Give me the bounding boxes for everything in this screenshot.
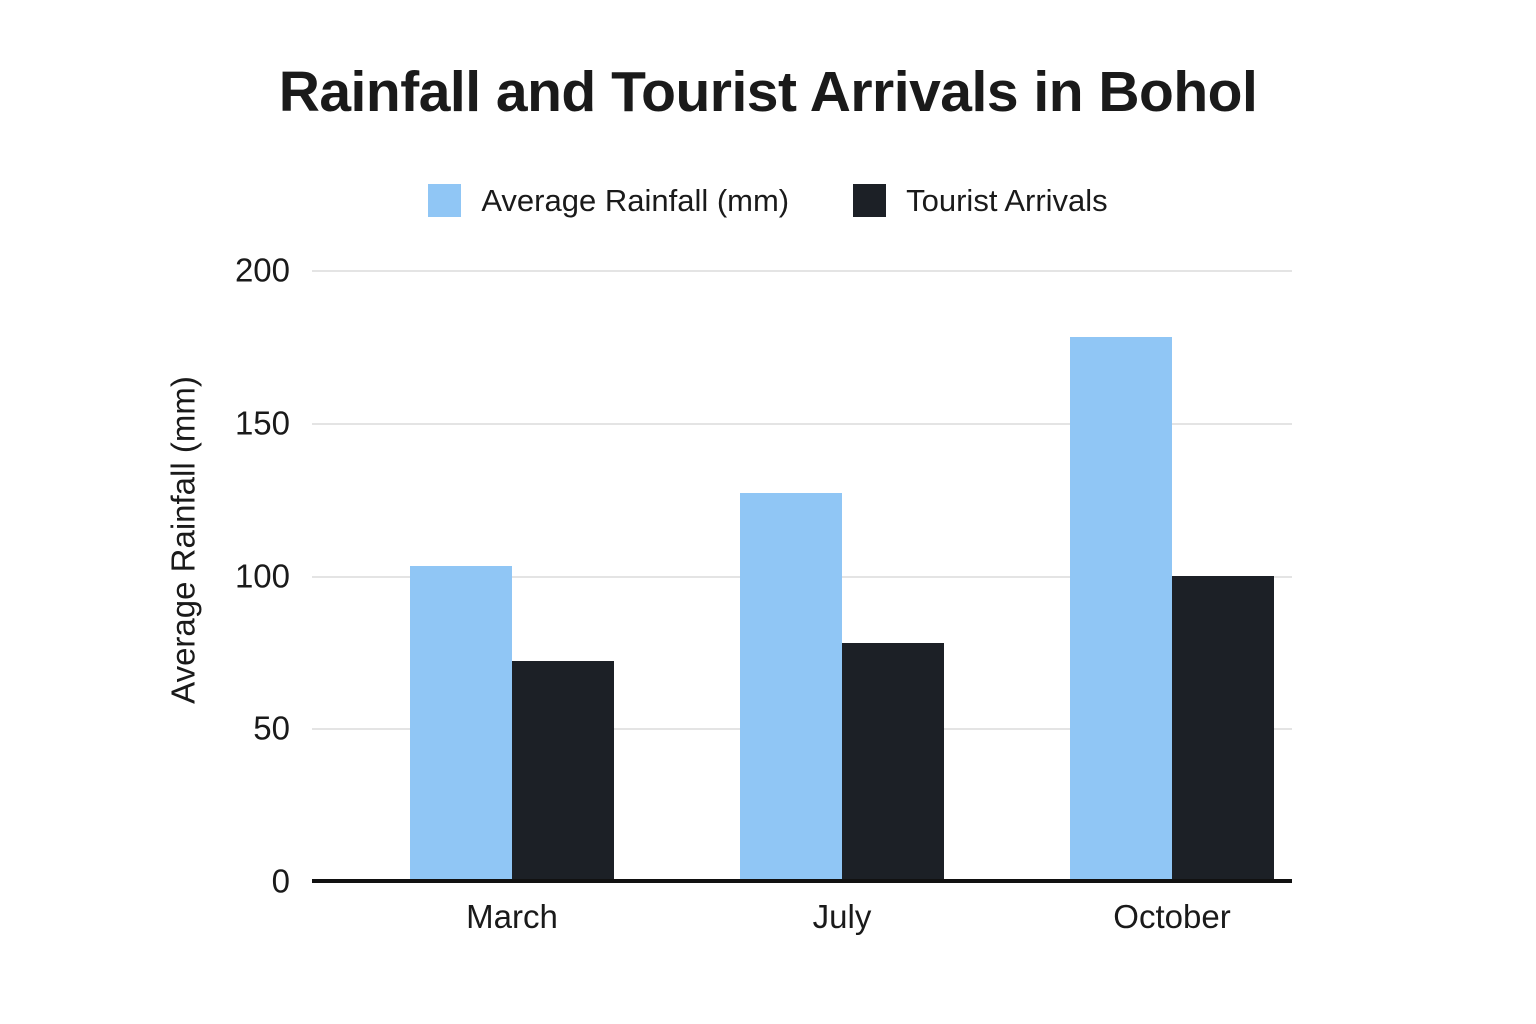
bar-march-rainfall[interactable] [410, 566, 512, 881]
gridline [312, 270, 1292, 272]
y-axis-tick-label: 200 [160, 254, 290, 287]
chart-title: Rainfall and Tourist Arrivals in Bohol [0, 63, 1536, 123]
x-axis-tick-label-july: July [813, 900, 872, 933]
legend-label-tourist-arrivals: Tourist Arrivals [906, 185, 1108, 216]
legend-label-average-rainfall: Average Rainfall (mm) [481, 185, 789, 216]
x-axis-line [312, 879, 1292, 883]
y-axis-tick-label: 0 [160, 865, 290, 898]
x-axis-tick-labels: MarchJulyOctober [312, 900, 1292, 960]
bar-october-rainfall[interactable] [1070, 337, 1172, 881]
bar-chart: Rainfall and Tourist Arrivals in Bohol A… [0, 0, 1536, 1024]
bar-march-tourist[interactable] [512, 661, 614, 881]
x-axis-tick-label-march: March [466, 900, 558, 933]
legend-item-average-rainfall[interactable]: Average Rainfall (mm) [428, 184, 789, 217]
bar-july-rainfall[interactable] [740, 493, 842, 881]
rainfall-swatch-icon [428, 184, 461, 217]
legend-item-tourist-arrivals[interactable]: Tourist Arrivals [853, 184, 1108, 217]
tourist-swatch-icon [853, 184, 886, 217]
y-axis-tick-label: 50 [160, 712, 290, 745]
bar-october-tourist[interactable] [1172, 576, 1274, 882]
bar-july-tourist[interactable] [842, 643, 944, 881]
y-axis-tick-label: 100 [160, 559, 290, 592]
y-axis-tick-labels: 050100150200 [150, 270, 290, 881]
chart-legend: Average Rainfall (mm) Tourist Arrivals [0, 184, 1536, 217]
x-axis-tick-label-october: October [1113, 900, 1230, 933]
plot-area [312, 270, 1292, 881]
y-axis-tick-label: 150 [160, 406, 290, 439]
